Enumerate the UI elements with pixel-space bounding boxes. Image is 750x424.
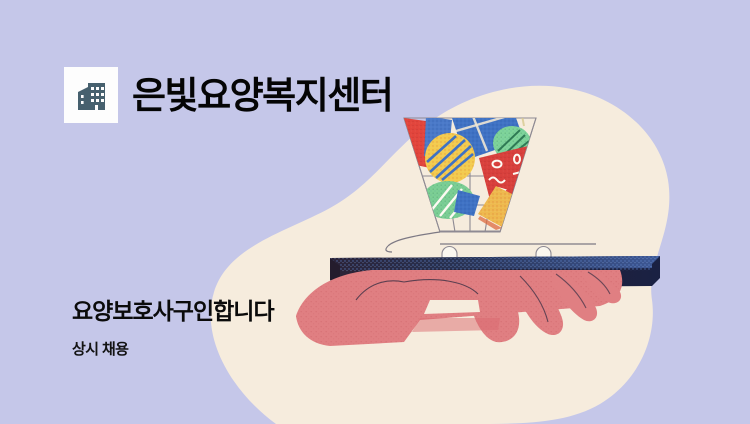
illustration-artwork xyxy=(0,0,750,424)
logo-plate xyxy=(64,67,118,123)
recruitment-banner: 은빛요양복지센터 요양보호사구인합니다 상시 채용 xyxy=(0,0,750,424)
logo-row: 은빛요양복지센터 xyxy=(64,67,392,123)
subline-text: 상시 채용 xyxy=(72,338,128,359)
organization-name: 은빛요양복지센터 xyxy=(132,77,392,114)
office-building-icon xyxy=(71,75,111,115)
headline-text: 요양보호사구인합니다 xyxy=(72,292,274,326)
item-circle-yellow-striped xyxy=(425,133,475,183)
